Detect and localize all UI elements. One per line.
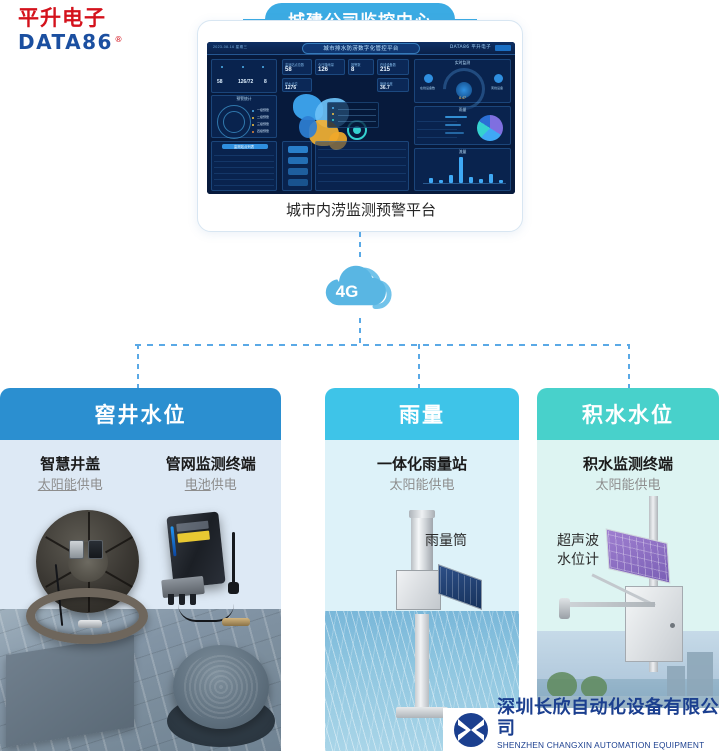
kpi-tile-0: 监测站点总数 58 [282, 59, 312, 75]
column-body-well-level: 智慧井盖 太阳能供电 管网监测终端 电池供电 [0, 440, 281, 751]
platform-caption: 城市内涝监测预警平台 [198, 199, 524, 220]
rtu-indicator-light [170, 526, 176, 556]
panel-title-station-list: 监测站点列表 [234, 144, 254, 149]
dashboard-title: 城市排水防涝数字化管控平台 [302, 43, 420, 54]
kpi-tile-5: 积水点位 1276 [282, 78, 312, 92]
rtu-label-sticker [177, 531, 210, 543]
connector-drop-2 [418, 344, 420, 388]
station-solar-panel [606, 528, 671, 583]
product-row-1: 智慧井盖 太阳能供电 管网监测终端 电池供电 [0, 440, 281, 496]
dashboard-canvas: 2023-08-16 星期三 城市排水防涝数字化管控平台 DATA86 平升电子… [207, 42, 515, 194]
panel-title-alerts: 预警统计 [236, 97, 251, 102]
power-suffix: 供电 [429, 478, 455, 493]
kpi-label-0: 监测站点总数 [285, 62, 304, 67]
rain-gauge-enclosure [396, 570, 441, 610]
column-body-rainfall: 一体化雨量站 太阳能供电 雨量筒 [325, 440, 519, 751]
power-suffix: 供电 [77, 478, 103, 493]
gauge-value: 8.47 [459, 96, 466, 100]
kpi-label-3: 在线设备数 [380, 62, 396, 67]
dashboard-logo: DATA86 平升电子 [450, 44, 491, 50]
station-cabinet [625, 586, 683, 662]
company-logo-icon [451, 712, 491, 748]
monitor-card: 2023-08-16 星期三 城市排水防涝数字化管控平台 DATA86 平升电子… [197, 20, 523, 232]
kpi-tile-value-5: 1276 [285, 85, 296, 91]
rtu-antenna [232, 532, 235, 586]
kpi-tile-value-2: 8 [351, 67, 354, 73]
link-line-top [359, 232, 361, 260]
rtu-cable-gland-1 [168, 594, 174, 605]
manhole-cover-closed [173, 645, 269, 729]
photo-pipe-monitoring-terminal [148, 492, 281, 652]
connector-tree [0, 344, 719, 390]
company-name-cn: 深圳长欣自动化设备有限公司 [497, 697, 719, 739]
panel-title-rain: 雨量 [459, 108, 467, 113]
power-type-underline: 电池 [185, 478, 211, 493]
gauge-left-label: 在线设备数 [420, 86, 435, 90]
panel-title-flow: 流量 [459, 150, 467, 155]
brand-name-en: DATA86 ® [18, 30, 113, 54]
brand-logo: 平升电子 DATA86 ® [18, 6, 158, 54]
brand-en-text: DATA86 [18, 30, 113, 54]
kpi-value-1: 126/72 [238, 79, 253, 85]
photo-waterlogging-station [537, 478, 719, 678]
dashboard-alert-panel: 预警统计 一级预警 二级预警 三级预警 四级预警 [211, 95, 277, 138]
product-rain-station: 一体化雨量站 太阳能供电 [325, 440, 519, 496]
product-row-2: 一体化雨量站 太阳能供电 [325, 440, 519, 496]
power-suffix: 供电 [211, 478, 237, 493]
product-power-rain-station: 太阳能供电 [325, 476, 519, 496]
map-tooltip-panel [327, 102, 379, 128]
dashboard-left-kpi-panel: 58 126/72 8 [211, 59, 277, 93]
dashboard-date: 2023-08-16 星期三 [213, 45, 247, 50]
dashboard-bar-panel: 流量 [414, 148, 511, 191]
kpi-tile-6: 管网长度 36.7 [377, 78, 409, 92]
product-name-smart-manhole: 智慧井盖 [0, 454, 141, 474]
dashboard-gauge-panel: 实时监测 8.47 在线设备数 离线设备 [414, 59, 511, 103]
column-header-rainfall: 雨量 [325, 388, 519, 440]
kpi-value-2: 8 [264, 79, 267, 85]
company-name-en: SHENZHEN CHANGXIN AUTOMATION EQUIPMENT C… [497, 739, 719, 751]
kpi-tile-3: 在线设备数 215 [377, 59, 409, 75]
power-type: 太阳能 [389, 478, 428, 493]
product-pipe-terminal: 管网监测终端 电池供电 [141, 440, 282, 496]
legend-2: 三级预警 [257, 122, 269, 126]
legend-1: 二级预警 [257, 115, 269, 119]
dashboard-device-table[interactable] [315, 141, 409, 191]
caption-ultrasonic-line-2: 水位计 [557, 551, 599, 570]
manhole-sensor-module-b [88, 540, 103, 559]
caption-ultrasonic-line-1: 超声波 [557, 532, 599, 551]
ultrasonic-level-sensor [559, 598, 570, 619]
company-banner: 深圳长欣自动化设备有限公司 SHENZHEN CHANGXIN AUTOMATI… [443, 708, 719, 751]
cloud-4g-icon: 4G [305, 258, 415, 322]
connector-horizontal [135, 344, 630, 346]
manhole-frame-ring [26, 588, 148, 644]
legend-0: 一级预警 [257, 108, 269, 112]
kpi-tile-value-0: 58 [285, 67, 292, 73]
dashboard-pie-panel: 雨量 [414, 106, 511, 145]
product-name-waterlogging-terminal: 积水监测终端 [537, 454, 719, 474]
rain-gauge-solar-panel [438, 564, 482, 610]
legend-3: 四级预警 [257, 129, 269, 133]
connector-drop-1 [137, 344, 139, 388]
gauge-left-icon [424, 74, 433, 83]
gauge-right-icon [494, 74, 503, 83]
power-type-underline: 太阳能 [38, 478, 77, 493]
rain-gauge-base [396, 707, 448, 718]
radar-chart-inner [223, 111, 245, 133]
kpi-tile-value-6: 36.7 [380, 85, 390, 91]
rain-gauge-pole [415, 614, 429, 712]
brand-name-cn: 平升电子 [18, 6, 158, 30]
pie-chart [477, 115, 503, 141]
photo-rain-gauge-station [325, 498, 519, 728]
kpi-tile-value-1: 126 [318, 67, 328, 73]
dashboard-fullscreen-button[interactable] [495, 45, 511, 51]
column-header-well-level: 窖井水位 [0, 388, 281, 440]
category-column-rainfall: 雨量 一体化雨量站 太阳能供电 雨量筒 [325, 388, 519, 751]
product-name-rain-station: 一体化雨量站 [325, 454, 519, 474]
connector-drop-3 [628, 344, 630, 388]
product-name-pipe-terminal: 管网监测终端 [141, 454, 282, 474]
dashboard-screen[interactable]: 2023-08-16 星期三 城市排水防涝数字化管控平台 DATA86 平升电子… [207, 42, 515, 194]
product-smart-manhole: 智慧井盖 太阳能供电 [0, 440, 141, 496]
dashboard-filter-buttons[interactable] [282, 141, 312, 191]
infographic-root: 平升电子 DATA86 ® 城建公司监控中心 2023-08-16 星期三 城市… [0, 0, 719, 751]
kpi-label-2: 报警数 [351, 62, 361, 67]
station-arm [563, 602, 655, 607]
manhole-sensor-module-a [69, 540, 84, 559]
kpi-tile-2: 报警数 8 [348, 59, 374, 75]
kpi-label-1: 今日降雨量 [318, 62, 334, 67]
kpi-value-0: 58 [217, 79, 223, 85]
kpi-tile-value-3: 215 [380, 67, 390, 73]
dashboard-station-table[interactable]: 监测站点列表 [211, 141, 277, 191]
link-line-middle [359, 318, 361, 344]
submersible-level-probe [222, 618, 250, 626]
kpi-tile-1: 今日降雨量 126 [315, 59, 345, 75]
column-header-waterlogging: 积水水位 [537, 388, 719, 440]
panel-title-realtime: 实时监测 [455, 61, 470, 66]
cloud-label: 4G [305, 282, 389, 302]
gauge-right-label: 离线设备 [491, 86, 503, 90]
category-column-well-level: 窖井水位 智慧井盖 太阳能供电 管网监测终端 电池供电 [0, 388, 281, 751]
registered-mark-icon: ® [114, 28, 124, 52]
caption-rain-gauge-cylinder: 雨量筒 [425, 532, 467, 551]
company-text: 深圳长欣自动化设备有限公司 SHENZHEN CHANGXIN AUTOMATI… [497, 697, 719, 751]
